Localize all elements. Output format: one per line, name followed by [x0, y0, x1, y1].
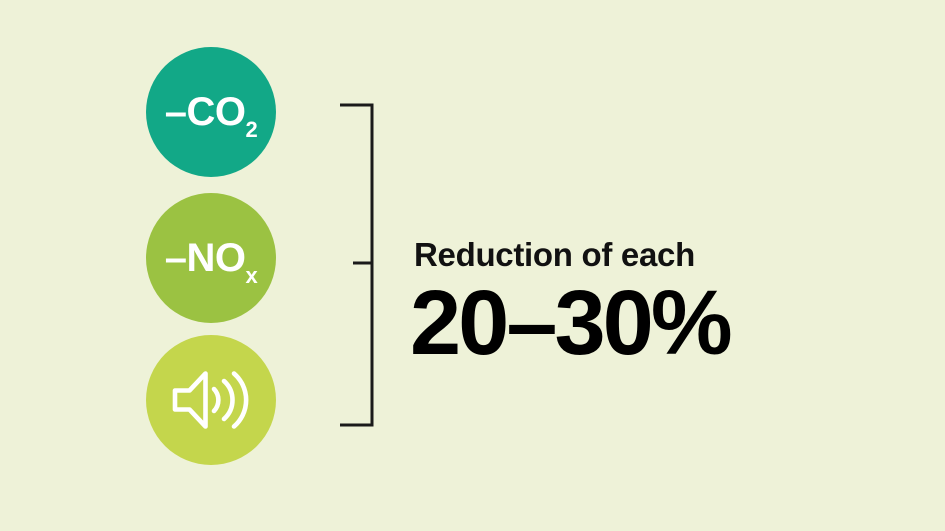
callout-value: 20–30%: [410, 277, 730, 369]
badge-co2-label: –CO2: [146, 47, 276, 177]
callout-text-block: Reduction of each 20–30%: [414, 238, 730, 369]
infographic-canvas: –CO2 –NOx Reduction of each 20–30%: [0, 0, 945, 531]
badge-co2-subscript: 2: [246, 119, 258, 141]
badge-nox-base: –NO: [165, 238, 246, 278]
callout-headline: Reduction of each: [414, 238, 730, 273]
badge-nox-label: –NOx: [146, 193, 276, 323]
grouping-bracket: [338, 100, 378, 430]
badge-co2: –CO2: [146, 47, 276, 177]
badge-co2-base: –CO: [165, 92, 246, 132]
badge-noise: [146, 335, 276, 465]
badge-nox-subscript: x: [246, 265, 258, 287]
speaker-sound-icon: [172, 368, 250, 432]
badge-nox: –NOx: [146, 193, 276, 323]
